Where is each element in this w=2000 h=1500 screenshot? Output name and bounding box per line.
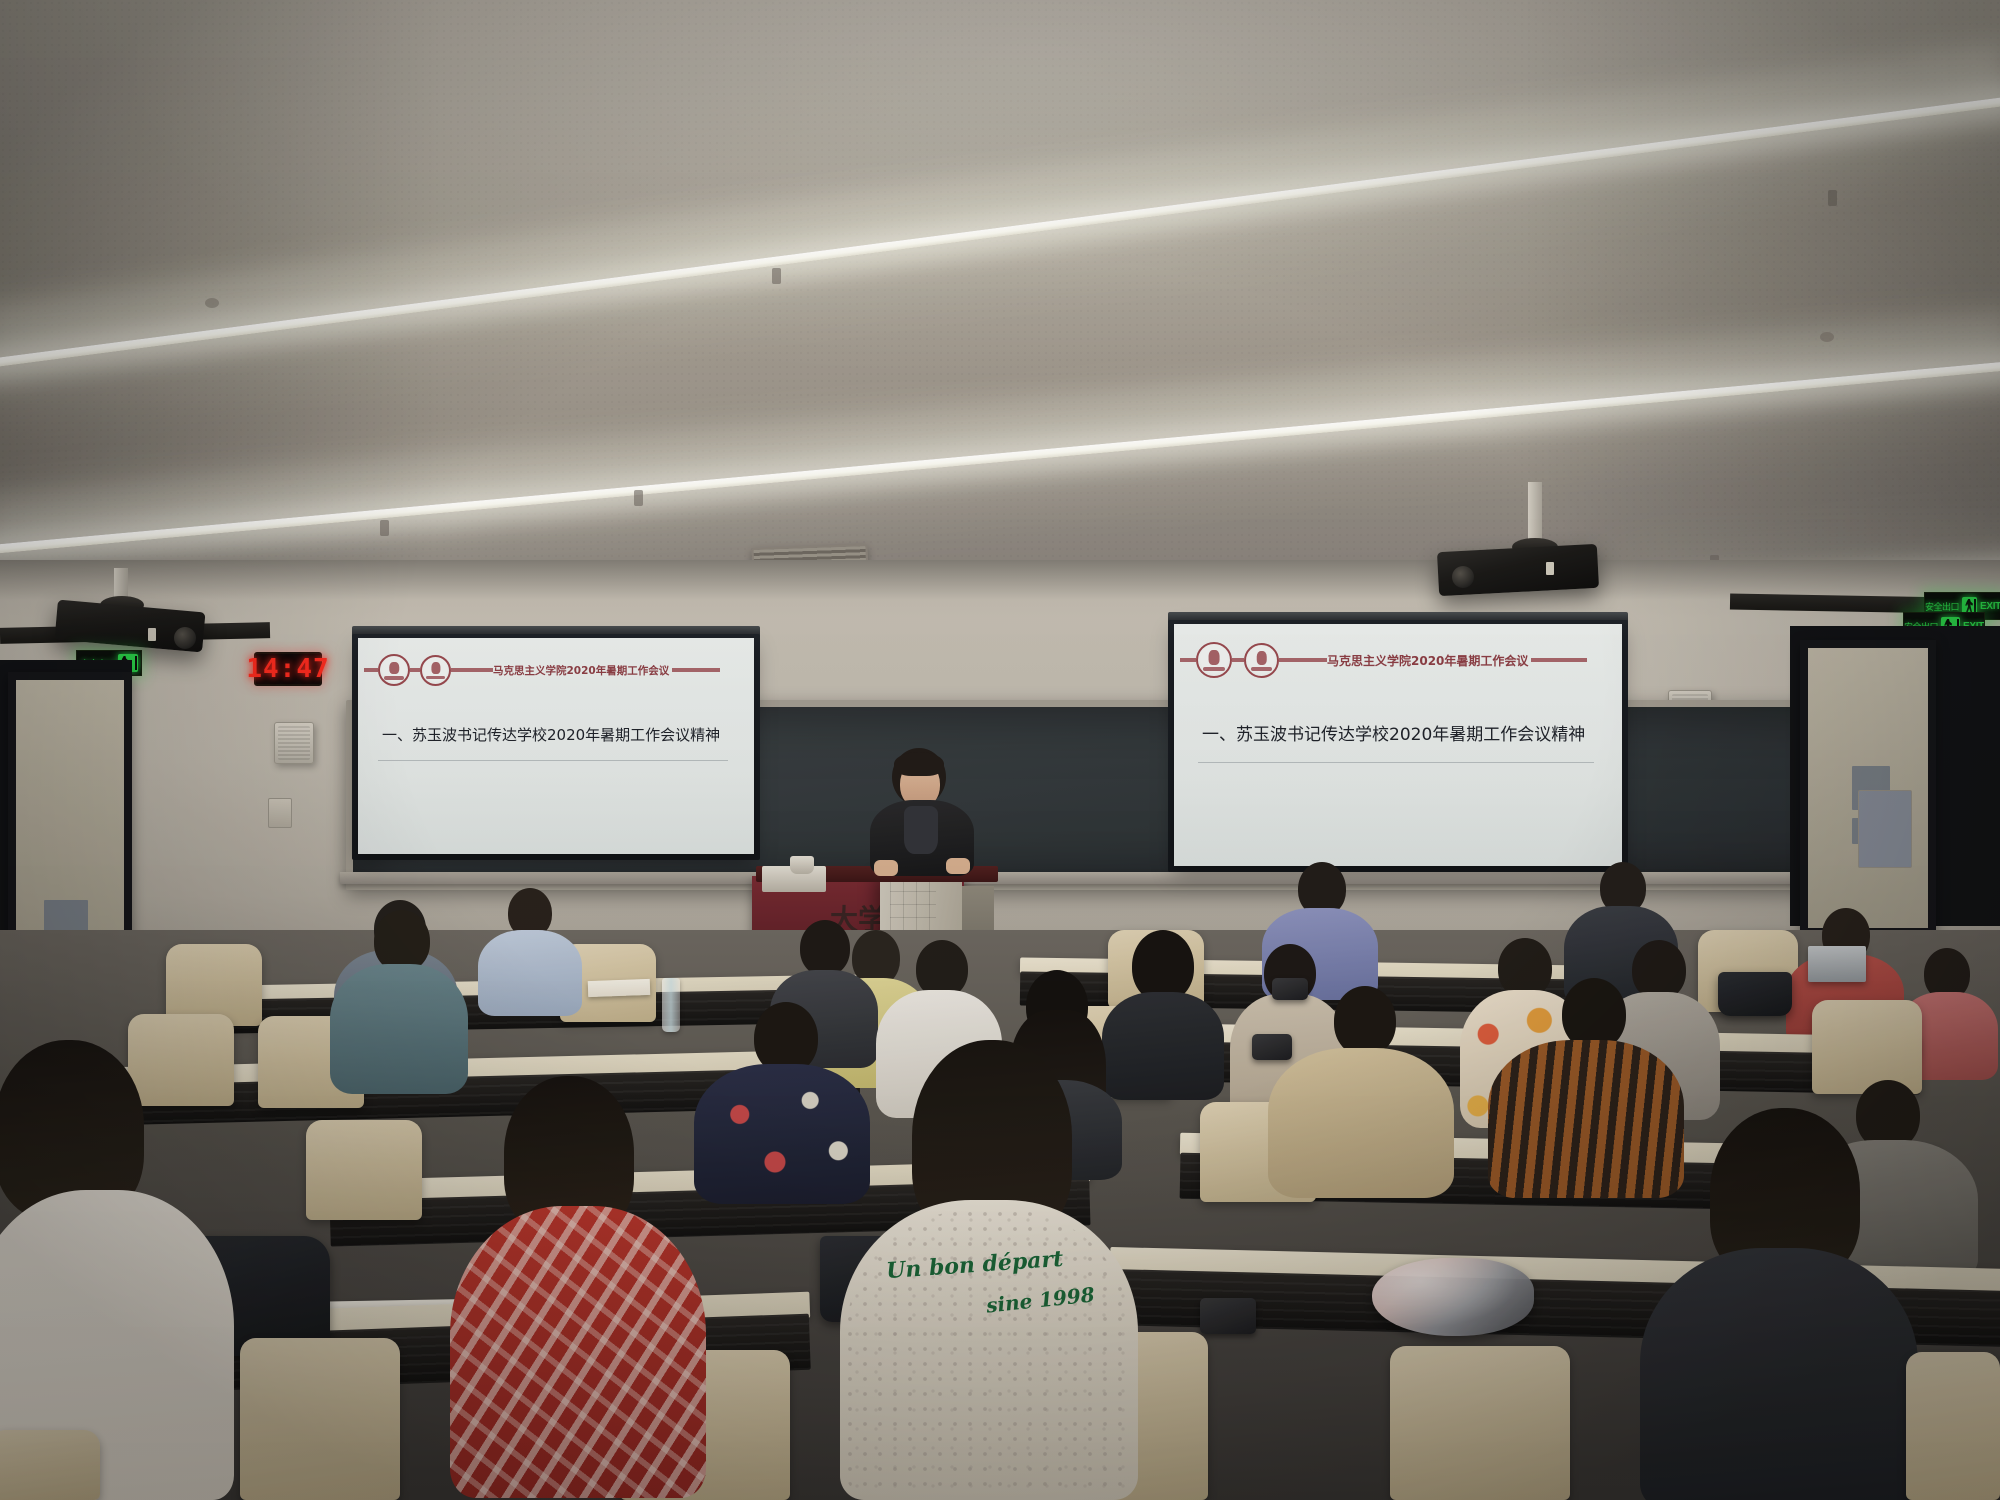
exit-sign-label-en-2: EXIT: [1980, 601, 2000, 612]
slide-rule-b-left: [410, 668, 420, 672]
attendee-r1-blue-shirt: [474, 888, 584, 1018]
attendee-r2-center-head: [800, 920, 850, 976]
slide-rule-a-left: [364, 668, 378, 672]
chair-r3-1[interactable]: [306, 1120, 422, 1220]
smartphone-on-front-desk[interactable]: [1200, 1298, 1256, 1334]
handbag-on-desk-right[interactable]: [1718, 972, 1792, 1016]
slide-header-left: 马克思主义学院2020年暑期工作会议: [358, 654, 754, 686]
attendee-r1-blue-torso: [478, 930, 582, 1016]
slide-logo-school-left: [420, 655, 451, 686]
red-pattern-torso: [450, 1206, 706, 1498]
chair-front-right-edge[interactable]: [1906, 1352, 2000, 1500]
slide-underline-left: [378, 760, 728, 761]
attendee-r2-teal-torso: [330, 964, 468, 1094]
chair-r4-1[interactable]: [240, 1338, 400, 1500]
plastic-bag-on-desk[interactable]: [1372, 1258, 1534, 1336]
projection-screen-left: 马克思主义学院2020年暑期工作会议 一、苏玉波书记传达学校2020年暑期工作会…: [358, 638, 754, 854]
slide-header-title-left: 马克思主义学院2020年暑期工作会议: [493, 663, 669, 678]
sprinkler-head-4: [634, 490, 643, 506]
slide-body-right: 一、苏玉波书记传达学校2020年暑期工作会议精神: [1202, 720, 1585, 745]
slide-header-right: 马克思主义学院2020年暑期工作会议: [1174, 642, 1622, 678]
digital-wall-clock: 14:47: [254, 652, 322, 686]
chair-front-far-left[interactable]: [0, 1430, 100, 1500]
laptop-on-desk[interactable]: [1808, 946, 1866, 982]
presenter-hair-front: [894, 752, 944, 776]
attendee-front-red-pattern: [450, 1076, 710, 1496]
chalkboard-chalk-rail: [340, 872, 2000, 884]
projector-indicator-left: [148, 628, 156, 641]
speaker-grill-left: [278, 726, 310, 760]
wall-speaker-left: [274, 722, 314, 764]
slide-header-title-right: 马克思主义学院2020年暑期工作会议: [1327, 652, 1528, 669]
handout-on-desk-row1[interactable]: [588, 979, 651, 997]
slide-rule-d-left: [672, 668, 720, 672]
front-right-torso: [1640, 1248, 1918, 1500]
wall-control-panel-left[interactable]: [268, 798, 292, 828]
sprinkler-head-1: [772, 268, 781, 284]
slide-rule-c-right: [1279, 658, 1327, 662]
lectern-cup: [790, 856, 814, 874]
attendee-r2-teal-head: [374, 910, 430, 972]
slide-rule-d-right: [1531, 658, 1587, 662]
attendee-r2-teal: [330, 910, 470, 1130]
slide-rule-c-left: [451, 668, 493, 672]
slide-rule-b-right: [1232, 658, 1244, 662]
ceiling-fixture-dot-1: [205, 298, 219, 308]
projector-mount-pole-right: [1528, 482, 1542, 546]
slide-logo-university-right: [1196, 642, 1232, 678]
slide-body-left: 一、苏玉波书记传达学校2020年暑期工作会议精神: [382, 724, 720, 745]
sprinkler-head-5: [380, 520, 389, 536]
slide-logo-school-right: [1244, 643, 1279, 678]
attendee-r3-olive-right: [1268, 986, 1458, 1196]
presenter-hand-right: [946, 858, 970, 874]
slide-logo-university-left: [378, 654, 410, 686]
attendee-front-lace-top: Un bon départ sine 1998: [840, 1040, 1140, 1500]
ceiling-fixture-dot-2: [1820, 332, 1834, 342]
attendee-r3-olive-torso: [1268, 1048, 1454, 1198]
wall-poster-right: [1858, 790, 1912, 868]
sprinkler-head-2: [1828, 190, 1837, 206]
projector-lens-left: [174, 627, 196, 649]
presenter-hand-left: [874, 860, 898, 876]
projector-indicator-right: [1546, 562, 1554, 575]
chair-r4-4[interactable]: [1390, 1346, 1570, 1500]
lecture-hall-photo: 安全出口 安全出口 EXIT 安全出口 EXIT 14:47 马: [0, 0, 2000, 1500]
attendee-r3-olive-head: [1334, 986, 1396, 1056]
water-bottle-on-desk[interactable]: [662, 978, 680, 1032]
clock-time-display: 14:47: [246, 654, 329, 684]
attendee-front-right-dark: [1640, 1108, 1920, 1500]
slide-rule-a-right: [1180, 658, 1196, 662]
slide-underline-right: [1198, 762, 1594, 763]
presenter-shirt-v: [904, 806, 938, 854]
wall-top-shadow: [0, 560, 2000, 600]
projector-lens-right: [1452, 566, 1474, 588]
exit-sign-label-zh-2: 安全出口: [1925, 600, 1959, 613]
projection-screen-right: 马克思主义学院2020年暑期工作会议 一、苏玉波书记传达学校2020年暑期工作会…: [1174, 624, 1622, 866]
presenter: [856, 748, 986, 888]
